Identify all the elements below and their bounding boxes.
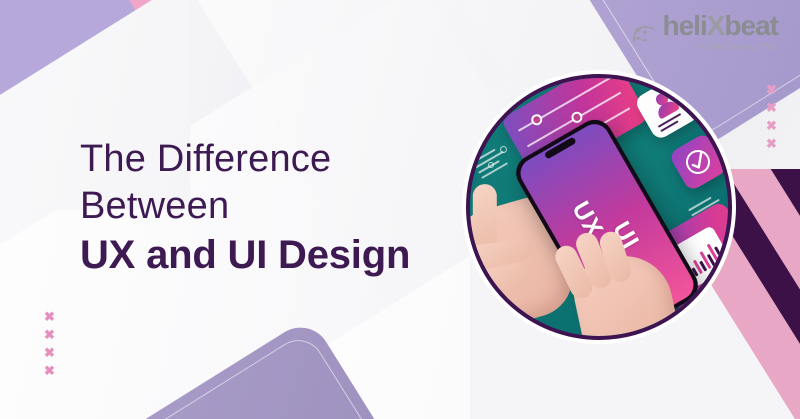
headline-line-1: The Difference (80, 136, 460, 183)
slider-knob-icon (529, 112, 544, 127)
bubble-icon (500, 146, 507, 153)
hero-teal-backdrop: UI UX (470, 78, 728, 336)
helixbeat-people-arc-icon (632, 22, 658, 48)
logo-word-part1: heli (663, 10, 707, 41)
headline-line-3: UX and UI Design (80, 232, 460, 279)
sparkle-icon: ✖ (766, 84, 777, 95)
sparkle-icon: ✖ (44, 311, 55, 322)
sparkle-icon: ✖ (44, 329, 55, 340)
sparkle-cluster-left: ✖ ✖ ✖ ✖ (44, 311, 55, 376)
headline-line-2: Between (80, 183, 460, 230)
approve-card (668, 132, 728, 192)
sparkle-cluster-right: ✖ ✖ ✖ ✖ (766, 84, 777, 149)
brand-logo[interactable]: heliXbeat Technology simplified (632, 12, 779, 51)
logo-wordmark: heliXbeat Technology simplified (663, 12, 779, 51)
sparkle-icon: ✖ (766, 102, 777, 113)
headline-block: The Difference Between UX and UI Design (80, 136, 460, 279)
sparkle-icon: ✖ (766, 120, 777, 131)
slider-knob-icon (569, 110, 584, 125)
hero-illustration-circle: UI UX (466, 74, 732, 340)
sparkle-icon: ✖ (44, 365, 55, 376)
sparkle-icon: ✖ (766, 138, 777, 149)
logo-word-x: X (707, 10, 725, 41)
sparkle-icon: ✖ (44, 347, 55, 358)
logo-word: heliXbeat (663, 12, 779, 40)
bubble-icon (488, 162, 494, 168)
logo-word-part3: beat (724, 10, 778, 41)
check-circle-icon (668, 132, 728, 192)
blog-hero-banner: ✖ ✖ ✖ ✖ ✖ ✖ ✖ ✖ heliXbeat Technology sim… (0, 0, 800, 419)
logo-tagline: Technology simplified (698, 42, 776, 51)
